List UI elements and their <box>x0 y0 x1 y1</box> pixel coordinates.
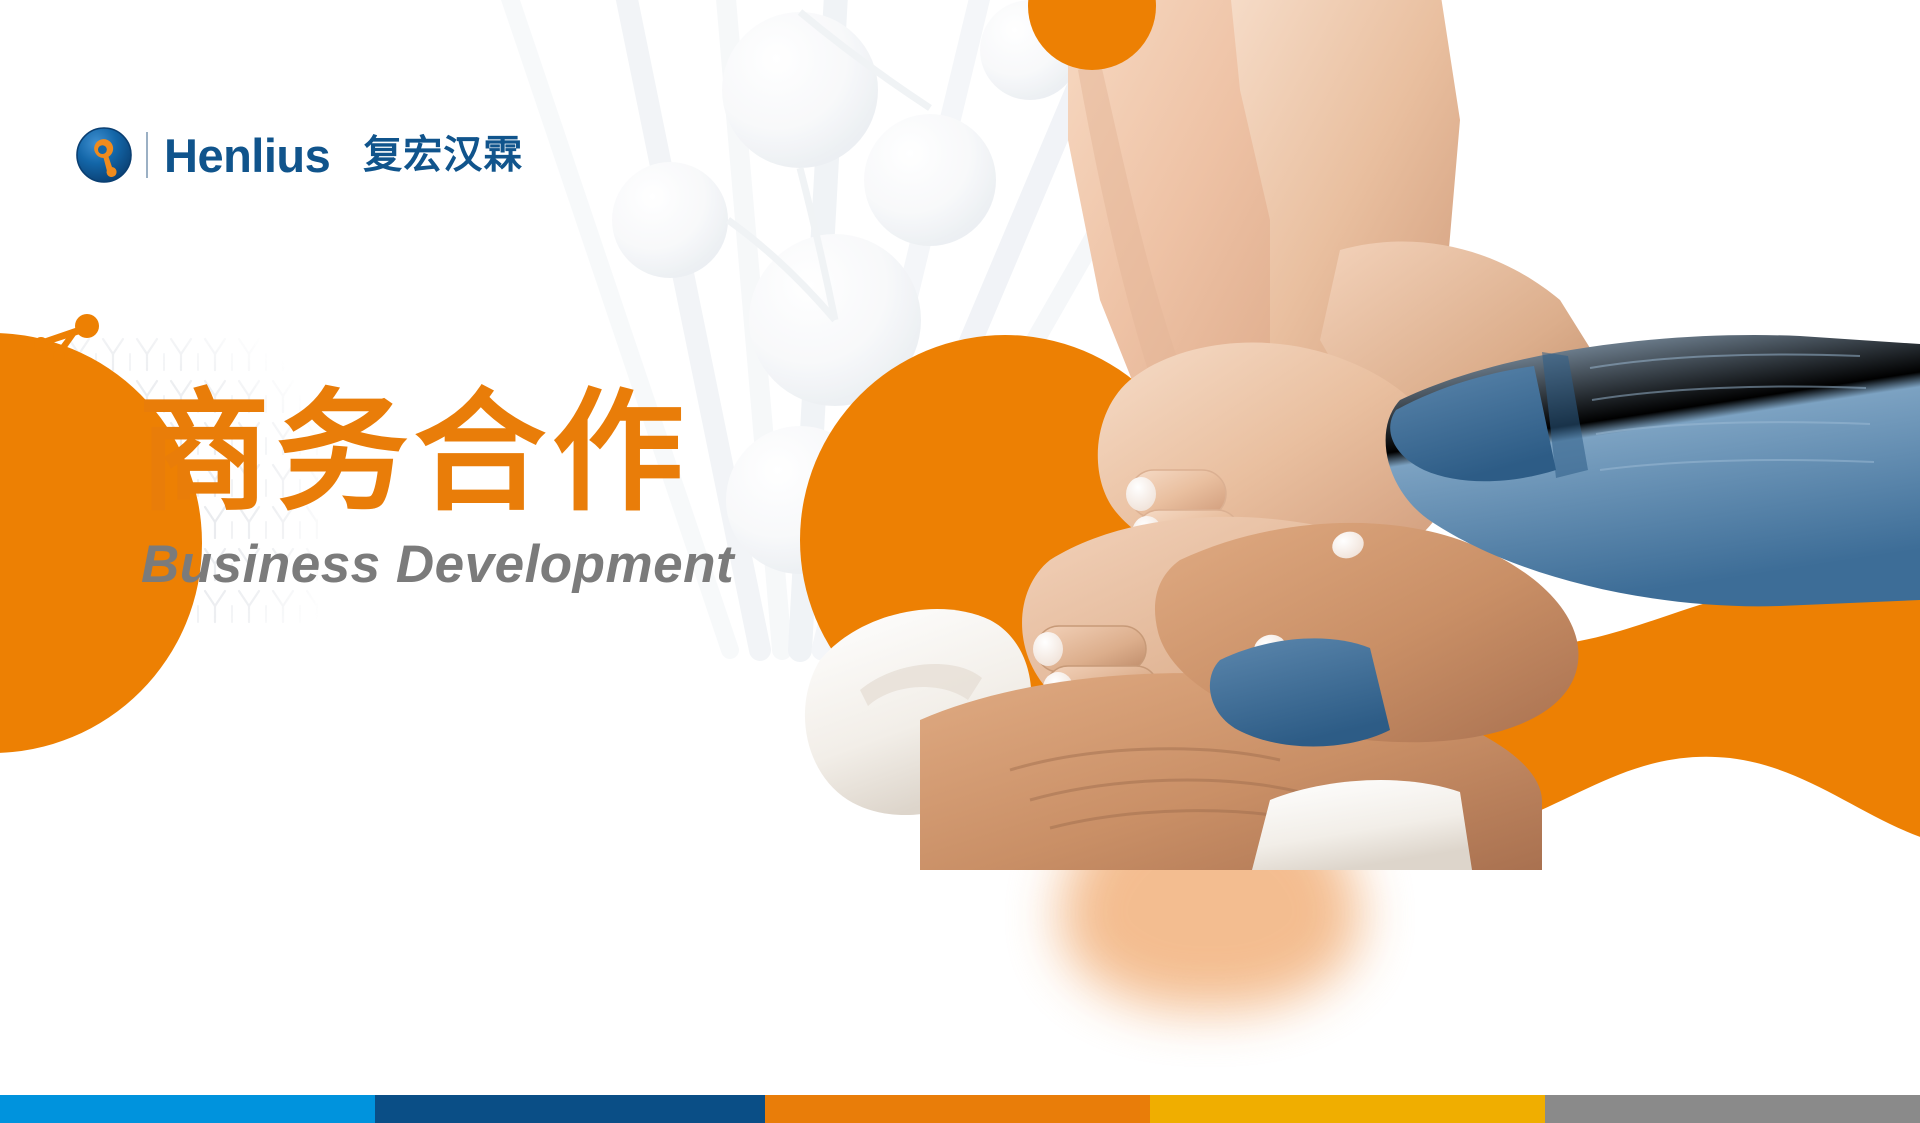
bottom-bar-segment-gold <box>1150 1095 1545 1123</box>
logo-divider <box>146 132 148 178</box>
slide-subtitle-english: Business Development <box>141 536 898 594</box>
bottom-bar-segment-light-blue <box>0 1095 375 1123</box>
henlius-emblem-icon <box>76 127 132 183</box>
logo-chinese-name: 复宏汉霖 <box>363 136 523 175</box>
title-block: 商务合作 Business Development <box>138 384 898 594</box>
presentation-slide: Henlius 复宏汉霖 商务合作 Business Development <box>0 0 1920 1123</box>
bottom-bar-segment-dark-blue <box>375 1095 765 1123</box>
bottom-bar-segment-orange <box>765 1095 1150 1123</box>
bottom-bar-segment-gray <box>1545 1095 1920 1123</box>
slide-title-chinese: 商务合作 <box>138 384 898 524</box>
bottom-color-bar <box>0 1095 1920 1123</box>
logo-wordmark: Henlius <box>164 132 330 179</box>
brand-logo-lockup[interactable]: Henlius 复宏汉霖 <box>76 124 523 186</box>
stacked-hands-photo <box>800 0 1920 870</box>
orange-molecule-accent <box>32 312 104 364</box>
